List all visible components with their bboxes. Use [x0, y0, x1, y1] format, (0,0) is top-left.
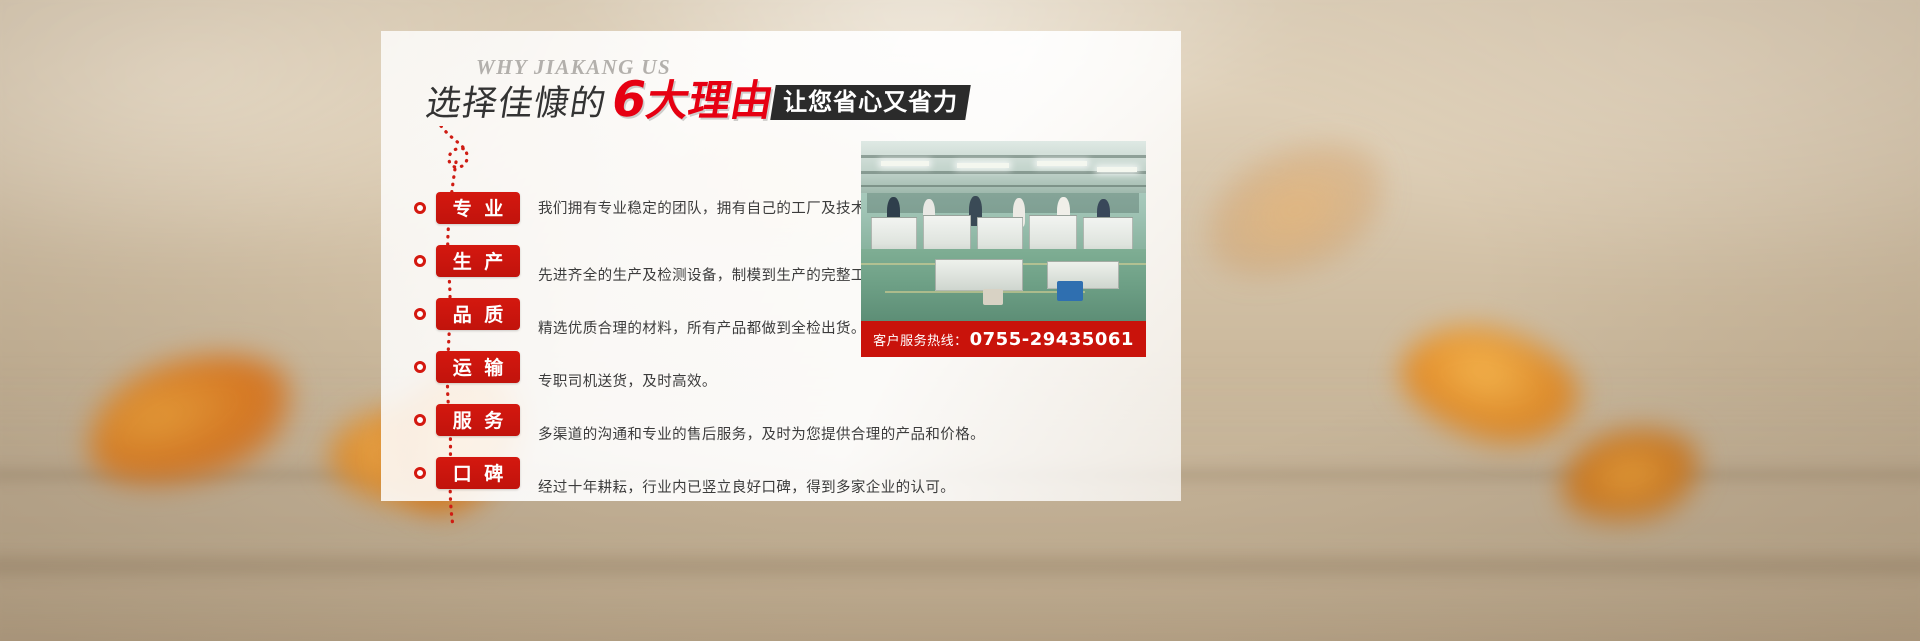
bullet-dot-icon-3: [414, 308, 426, 320]
bullet-dot-icon-1: [414, 202, 426, 214]
reason-desc-1: 我们拥有专业稳定的团队，拥有自己的工厂及技术。: [538, 197, 881, 218]
reason-badge-3[interactable]: 品 质: [436, 298, 520, 330]
reason-badge-5[interactable]: 服 务: [436, 404, 520, 436]
hotline-bar: 客户服务热线： 0755-29435061: [861, 321, 1146, 357]
bullet-dot-icon-2: [414, 255, 426, 267]
bullet-dot-icon-5: [414, 414, 426, 426]
reason-desc-6: 经过十年耕耘，行业内已竖立良好口碑，得到多家企业的认可。: [538, 476, 955, 499]
heading-main-row: 选择佳慷的 6 大理由 让您省心又省力: [426, 77, 968, 122]
reason-badge-4[interactable]: 运 输: [436, 351, 520, 383]
factory-photo-block: 客户服务热线： 0755-29435061: [861, 141, 1146, 357]
reason-row-5: 服 务 多渠道的沟通和专业的售后服务，及时为您提供合理的产品和价格。: [436, 393, 1176, 446]
reason-badge-1[interactable]: 专 业: [436, 192, 520, 224]
photo-box: [983, 289, 1003, 305]
photo-lamp-1: [881, 161, 929, 166]
banner-content: WHY JIAKANG US 选择佳慷的 6 大理由 让您省心又省力 专 业 我…: [381, 31, 1381, 501]
bullet-dot-icon-4: [414, 361, 426, 373]
heading-chinese-prefix: 选择佳慷的: [423, 87, 615, 122]
photo-lamp-2: [957, 163, 1009, 168]
photo-beam-3: [861, 185, 1146, 187]
heading-tagline: 让您省心又省力: [770, 85, 971, 120]
bullet-dot-icon-6: [414, 467, 426, 479]
hotline-label: 客户服务热线：: [873, 330, 968, 349]
reason-desc-3: 精选优质合理的材料，所有产品都做到全检出货。: [538, 317, 866, 340]
reason-row-6: 口 碑 经过十年耕耘，行业内已竖立良好口碑，得到多家企业的认可。: [436, 446, 1176, 499]
reason-badge-6[interactable]: 口 碑: [436, 457, 520, 489]
reason-desc-2: 先进齐全的生产及检测设备，制模到生产的完整工艺。: [538, 264, 896, 287]
hotline-number[interactable]: 0755-29435061: [970, 329, 1134, 350]
photo-lamp-3: [1037, 161, 1087, 166]
heading-tagline-text: 让您省心又省力: [783, 90, 958, 114]
photo-workbench-1: [935, 259, 1023, 291]
reason-desc-4: 专职司机送货，及时高效。: [538, 370, 717, 393]
heading-red-text: 大理由: [641, 80, 778, 122]
photo-beam-1: [861, 155, 1146, 158]
photo-lamp-4: [1097, 167, 1137, 172]
reason-desc-5: 多渠道的沟通和专业的售后服务，及时为您提供合理的产品和价格。: [538, 423, 985, 446]
factory-photo: [861, 141, 1146, 321]
photo-blue-bin: [1057, 281, 1083, 301]
reason-badge-2[interactable]: 生 产: [436, 245, 520, 277]
